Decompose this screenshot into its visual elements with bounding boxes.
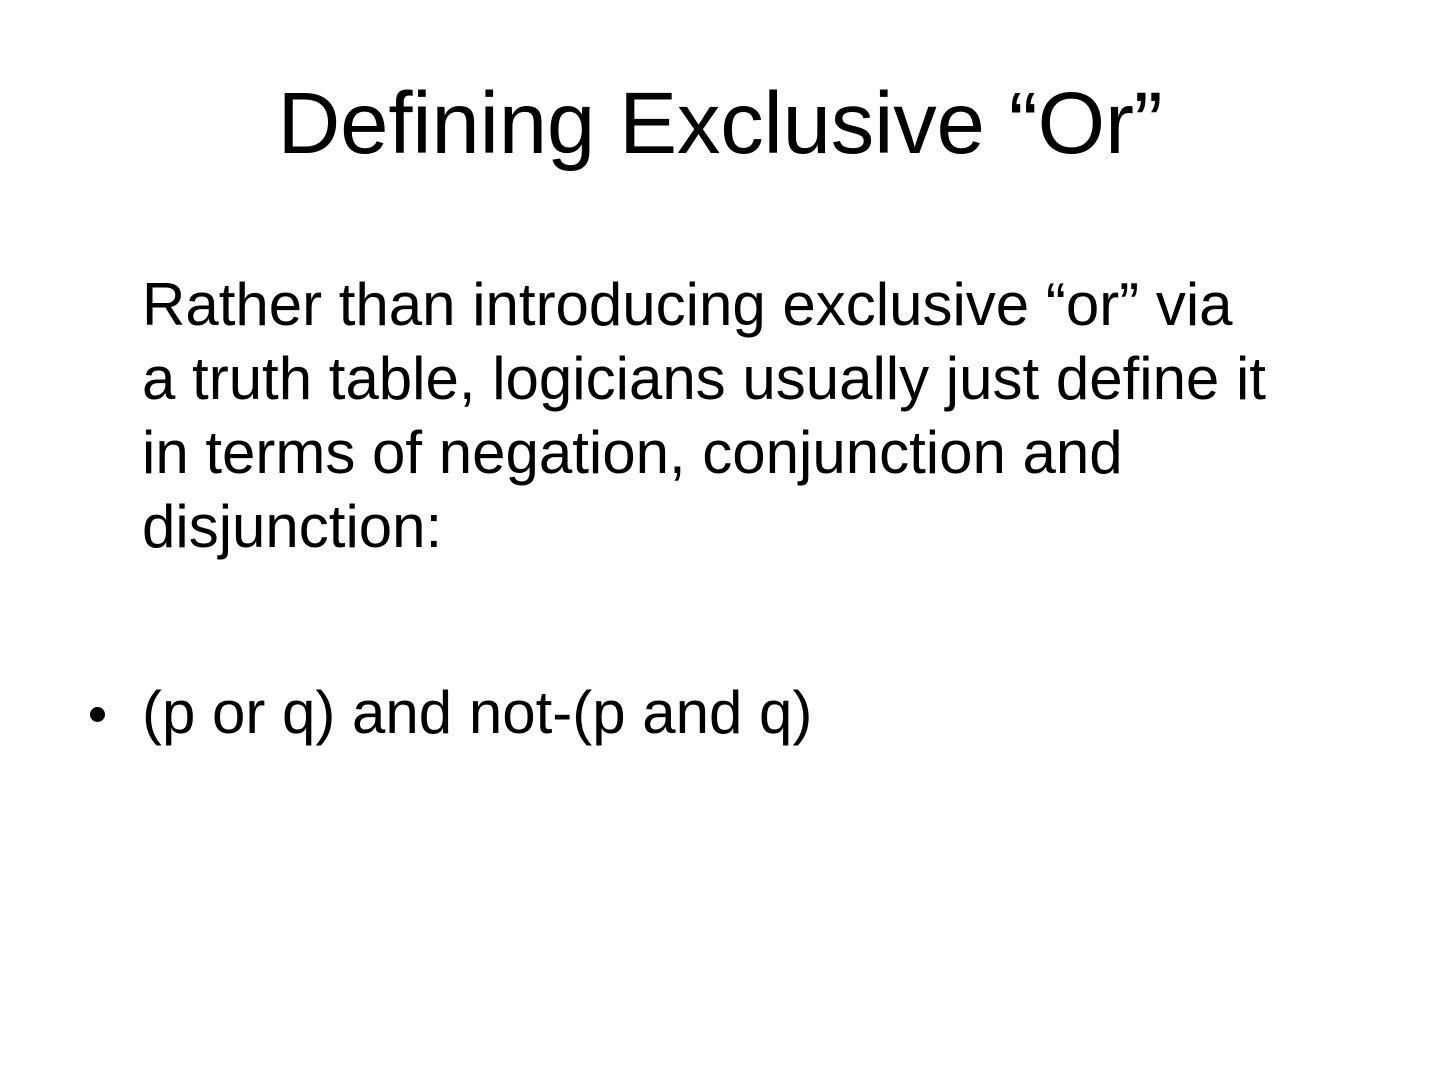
slide-canvas: Defining Exclusive “Or” Rather than intr… — [0, 0, 1440, 1080]
bullet-dot-icon — [90, 707, 105, 722]
slide-body-block: Rather than introducing exclusive “or” v… — [88, 268, 1352, 750]
slide-title-block: Defining Exclusive “Or” — [108, 78, 1332, 169]
page-title: Defining Exclusive “Or” — [108, 78, 1332, 169]
bullet-marker — [88, 676, 142, 750]
paragraph-spacer — [88, 564, 1352, 676]
body-paragraph-formula-text: (p or q) and not-(p and q) — [142, 676, 1280, 750]
body-paragraph-intro-text: Rather than introducing exclusive “or” v… — [142, 268, 1280, 564]
body-paragraph-intro: Rather than introducing exclusive “or” v… — [88, 268, 1352, 564]
body-paragraph-formula: (p or q) and not-(p and q) — [88, 676, 1352, 750]
